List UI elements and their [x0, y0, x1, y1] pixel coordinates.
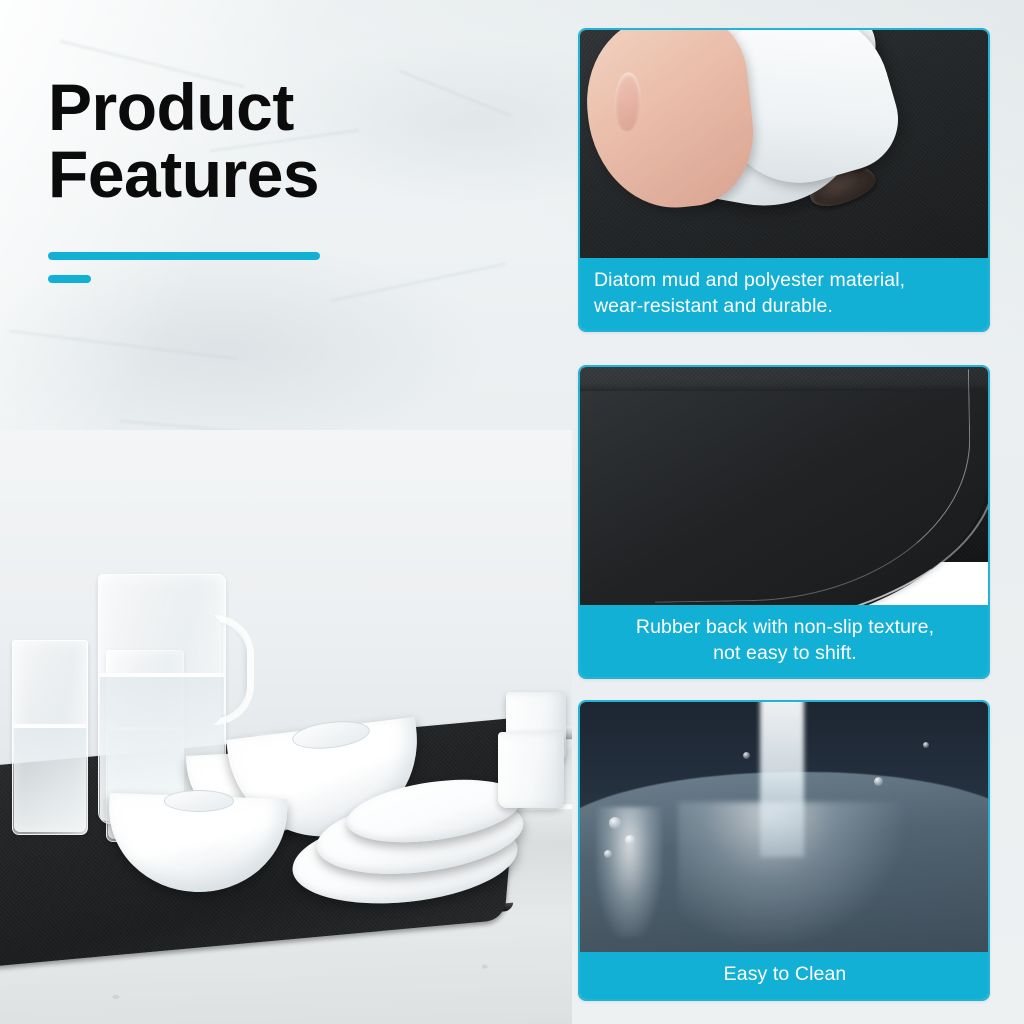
- caption-line-2: wear-resistant and durable.: [594, 294, 976, 320]
- product-features-infographic: Product Features: [0, 0, 1024, 1024]
- p2-stitched-hem: [580, 396, 988, 605]
- hero-cup-front: [498, 732, 564, 808]
- title-underline-long: [48, 252, 320, 260]
- feature-caption-rubber-back: Rubber back with non-slip texture, not e…: [580, 605, 988, 677]
- page-title-line-2: Features: [48, 141, 518, 208]
- feature-image-easy-clean: [580, 702, 988, 952]
- page-title: Product Features: [48, 74, 518, 209]
- feature-panel-rubber-back[interactable]: Rubber back with non-slip texture, not e…: [578, 365, 990, 679]
- feature-caption-material: Diatom mud and polyester material, wear-…: [580, 258, 988, 330]
- feature-image-material: [580, 30, 988, 258]
- hero-product-photo: [0, 430, 572, 1024]
- hero-glass-tall-left: [12, 640, 88, 835]
- title-underline-short: [48, 275, 91, 283]
- hero-bowl-front-foot: [164, 790, 234, 812]
- feature-panel-easy-clean[interactable]: Easy to Clean: [578, 700, 990, 1001]
- p3-water-stream: [760, 702, 805, 857]
- caption-line-2: not easy to shift.: [594, 641, 976, 667]
- feature-image-rubber-back: [580, 367, 988, 605]
- feature-panel-material[interactable]: Diatom mud and polyester material, wear-…: [578, 28, 990, 332]
- caption-line-1: Rubber back with non-slip texture,: [636, 616, 934, 638]
- p3-foam-edge: [596, 807, 661, 937]
- feature-caption-easy-clean: Easy to Clean: [580, 952, 988, 999]
- caption-line-1: Diatom mud and polyester material,: [594, 269, 905, 291]
- page-title-line-1: Product: [48, 70, 294, 144]
- p1-thumbnail: [614, 72, 642, 132]
- caption-line-1: Easy to Clean: [724, 963, 847, 985]
